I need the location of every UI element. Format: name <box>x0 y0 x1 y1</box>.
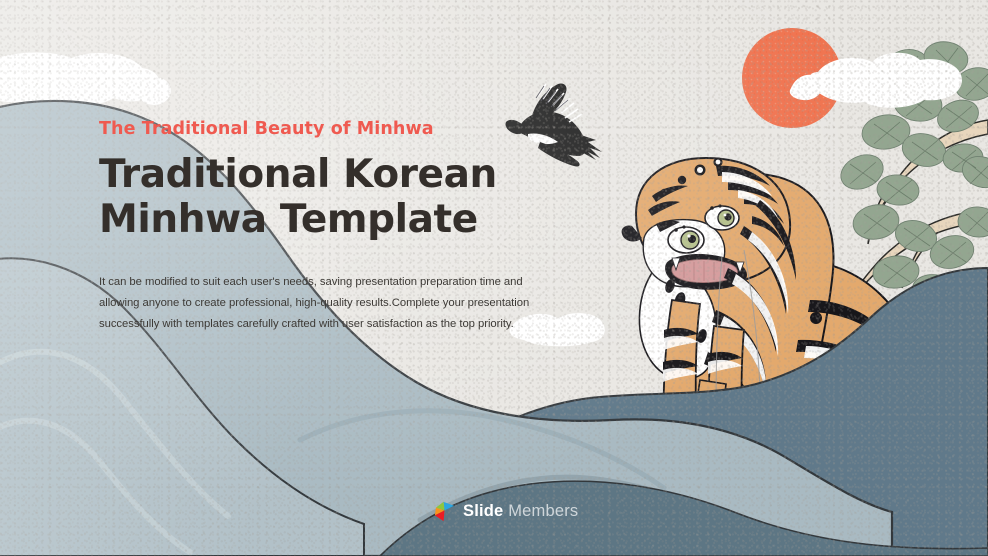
presentation-slide: The Traditional Beauty of Minhwa Traditi… <box>0 0 988 556</box>
description-text: It can be modified to suit each user's n… <box>99 272 551 335</box>
brand-name-bold: Slide <box>463 502 503 520</box>
brand-name: Slide Members <box>463 503 578 520</box>
page-title: Traditional Korean Minhwa Template <box>99 153 569 243</box>
headline-line-2: Minhwa Template <box>99 197 478 242</box>
title-text-block: The Traditional Beauty of Minhwa Traditi… <box>99 120 569 335</box>
brand-watermark: Slide Members <box>433 500 578 523</box>
pinwheel-logo-icon <box>433 500 456 523</box>
headline-line-1: Traditional Korean <box>99 152 497 197</box>
eyebrow-text: The Traditional Beauty of Minhwa <box>99 120 569 139</box>
brand-name-light: Members <box>503 502 578 520</box>
